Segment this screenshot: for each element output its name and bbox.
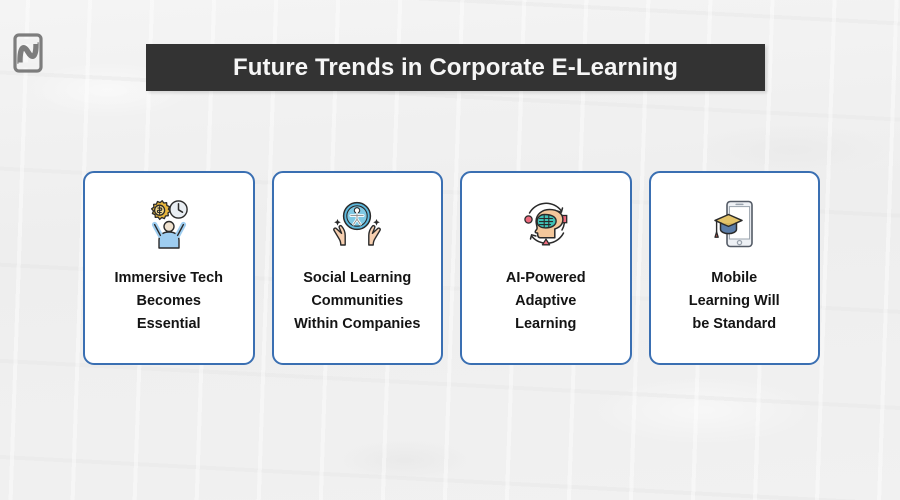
trend-card-list: Immersive Tech Becomes Essential [83,171,820,365]
head-with-brain-and-refresh-arrows-icon [515,195,577,253]
trend-card-ai-powered[interactable]: AI-Powered Adaptive Learning [460,171,632,365]
trend-card-label: Mobile Learning Will be Standard [683,267,786,336]
hands-holding-person-circle-icon [326,195,388,253]
person-raising-gear-coin-and-clock-icon [138,195,200,253]
trend-card-immersive-tech[interactable]: Immersive Tech Becomes Essential [83,171,255,365]
trend-card-mobile-learning[interactable]: Mobile Learning Will be Standard [649,171,821,365]
slide-canvas: Future Trends in Corporate E-Learning [0,0,900,500]
page-title: Future Trends in Corporate E-Learning [233,54,678,82]
trend-card-label: Social Learning Communities Within Compa… [288,267,426,336]
trend-card-label: AI-Powered Adaptive Learning [500,267,592,336]
trend-card-social-learning[interactable]: Social Learning Communities Within Compa… [272,171,444,365]
trend-card-label: Immersive Tech Becomes Essential [108,267,229,336]
brand-logo-icon [12,33,44,73]
title-banner: Future Trends in Corporate E-Learning [146,44,765,91]
smartphone-with-graduation-cap-icon [703,195,765,253]
